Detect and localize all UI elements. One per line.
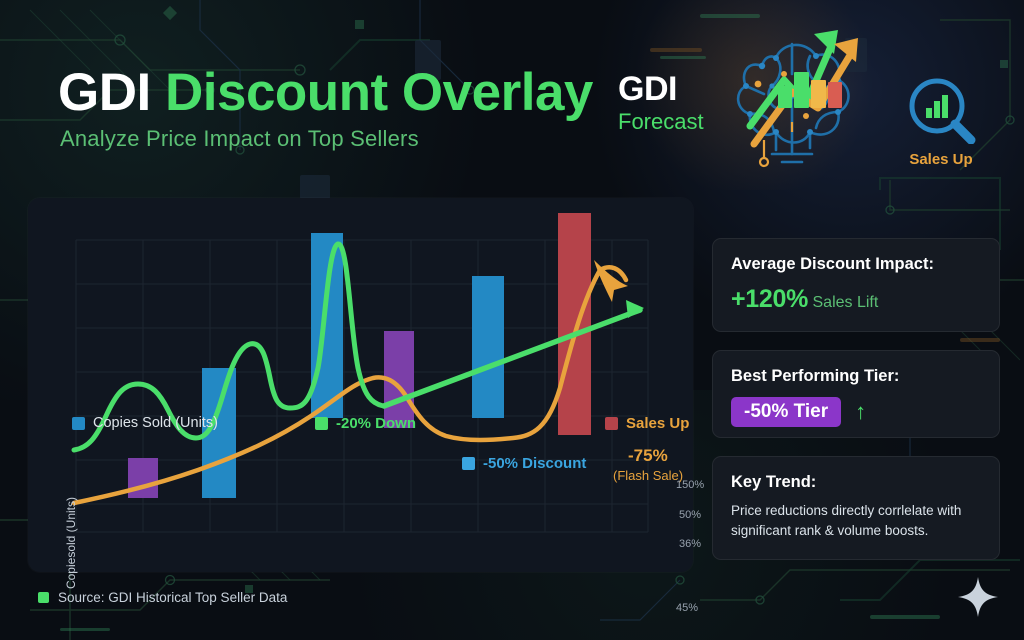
page-subtitle: Analyze Price Impact on Top Sellers: [60, 126, 419, 152]
card-2-title: Best Performing Tier:: [731, 367, 981, 386]
source-swatch-icon: [38, 592, 49, 603]
y-axis-tick-150: 150%: [676, 479, 704, 491]
chart-source: Source: GDI Historical Top Seller Data: [38, 590, 287, 605]
discount-trend-arrow: [384, 310, 640, 406]
key-trend-card[interactable]: Key Trend: Price reductions directly cor…: [712, 456, 1000, 560]
legend-label-copies: Copies Sold (Units): [93, 415, 218, 431]
average-discount-impact-card[interactable]: Average Discount Impact: +120% Sales Lif…: [712, 238, 1000, 332]
page-title-main: Discount Overlay: [165, 63, 593, 122]
chart-canvas[interactable]: [28, 198, 693, 572]
y-axis-label: Copiesold (Units): [64, 478, 78, 608]
brain-growth-icon: [706, 4, 892, 176]
page-title: GDI Discount Overlay: [58, 62, 593, 123]
y-axis-tick-50: 50%: [679, 509, 701, 521]
discount-trend-arrowhead: [626, 300, 644, 318]
source-label: Source: GDI Historical Top Seller Data: [58, 590, 287, 605]
magnifier-bar-chart-icon: [893, 74, 989, 144]
card-1-title: Average Discount Impact:: [731, 255, 981, 274]
legend-50-discount[interactable]: -50% Discount: [462, 455, 586, 472]
legend-swatch-copies: [72, 417, 85, 430]
bar-blue-3: [472, 276, 504, 418]
legend-20-down[interactable]: -20% Down: [315, 415, 416, 432]
legend-label-discount: -50% Discount: [483, 455, 586, 472]
legend-swatch-sales: [605, 417, 618, 430]
sales-up-label: Sales Up: [893, 151, 989, 168]
sales-up-badge: Sales Up: [893, 74, 989, 166]
page-header: GDI Discount Overlay Analyze Price Impac…: [0, 0, 1024, 186]
legend-sales-up[interactable]: Sales Up: [605, 415, 689, 432]
y-axis-tick-36: 36%: [679, 538, 701, 550]
bar-blue-2: [311, 233, 343, 418]
bar-red-1: [558, 213, 591, 435]
card-3-title: Key Trend:: [731, 473, 981, 492]
legend-swatch-discount: [462, 457, 475, 470]
legend-label-down: -20% Down: [336, 415, 416, 432]
sparkle-icon: [956, 575, 1000, 619]
best-performing-tier-card[interactable]: Best Performing Tier: -50% Tier ↑: [712, 350, 1000, 438]
card-1-value-rest: Sales Lift: [813, 294, 879, 311]
flash-sale-caption: (Flash Sale): [613, 468, 683, 483]
trend-up-arrow-icon: ↑: [855, 401, 866, 423]
legend-copies-sold[interactable]: Copies Sold (Units): [72, 415, 218, 431]
card-1-value-strong: +120%: [731, 285, 808, 313]
y-axis-tick-45: 45%: [676, 602, 698, 614]
bar-purple-1: [128, 458, 158, 498]
best-tier-badge[interactable]: -50% Tier: [731, 397, 841, 427]
discount-overlay-chart-panel[interactable]: Copies Sold (Units) -20% Down -50% Disco…: [28, 198, 693, 572]
card-2-row: -50% Tier ↑: [731, 397, 981, 427]
card-1-value: +120% Sales Lift: [731, 285, 981, 314]
card-3-body: Price reductions directly corrlelate wit…: [731, 501, 981, 540]
legend-label-sales: Sales Up: [626, 415, 689, 432]
flash-sale-value: -75%: [628, 446, 668, 466]
legend-swatch-down: [315, 417, 328, 430]
page-title-brand: GDI: [58, 63, 151, 122]
